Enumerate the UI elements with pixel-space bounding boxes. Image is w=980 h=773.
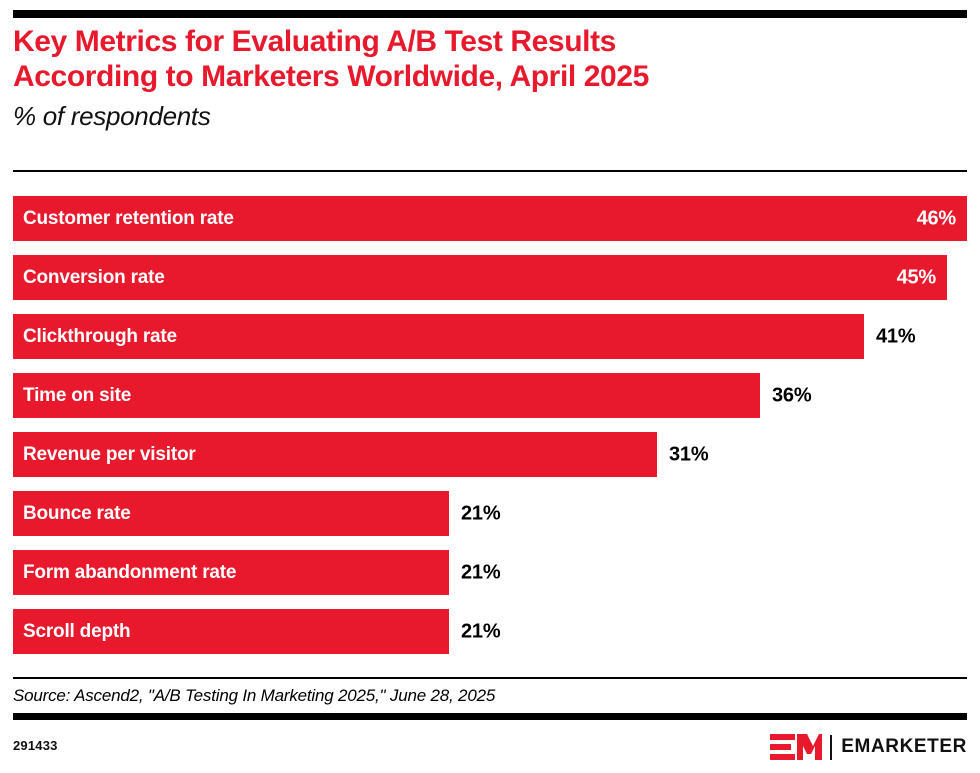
source-top-divider (13, 677, 967, 679)
page-title: Key Metrics for Evaluating A/B Test Resu… (13, 24, 967, 95)
bar-row: Revenue per visitor31% (13, 432, 967, 477)
bar: Customer retention rate46% (13, 196, 967, 241)
chart-subtitle: % of respondents (13, 101, 967, 132)
bar-label: Conversion rate (13, 267, 165, 289)
bar-value: 21% (461, 620, 500, 643)
bar-row: Time on site36% (13, 373, 967, 418)
bar: Time on site (13, 373, 760, 418)
chart-page: Key Metrics for Evaluating A/B Test Resu… (0, 0, 980, 773)
bar-value: 31% (669, 443, 708, 466)
top-rule (13, 10, 967, 18)
bar: Form abandonment rate (13, 550, 449, 595)
bottom-rule (13, 713, 967, 720)
bar: Clickthrough rate (13, 314, 864, 359)
em-monogram-icon (770, 734, 822, 761)
bar-label: Revenue per visitor (13, 444, 196, 466)
brand-logo: EMARKETER (770, 733, 967, 761)
bar-row: Conversion rate45% (13, 255, 967, 300)
bar-value: 21% (461, 502, 500, 525)
bar-row: Form abandonment rate21% (13, 550, 967, 595)
bar: Revenue per visitor (13, 432, 657, 477)
bar-chart: Customer retention rate46%Conversion rat… (13, 196, 967, 654)
bar-label: Clickthrough rate (13, 326, 177, 348)
bar-label: Form abandonment rate (13, 562, 236, 584)
bar-value: 45% (897, 266, 936, 289)
brand-divider (830, 735, 832, 760)
bar-label: Bounce rate (13, 503, 131, 525)
bar: Bounce rate (13, 491, 449, 536)
bar-row: Clickthrough rate41% (13, 314, 967, 359)
bar-label: Time on site (13, 385, 131, 407)
bar-value: 21% (461, 561, 500, 584)
bar-label: Customer retention rate (13, 208, 234, 230)
bar-row: Scroll depth21% (13, 609, 967, 654)
bar-value: 46% (917, 207, 956, 230)
chart-header: Key Metrics for Evaluating A/B Test Resu… (13, 24, 967, 132)
bar-value: 41% (876, 325, 915, 348)
bar-label: Scroll depth (13, 621, 130, 643)
brand-wordmark: EMARKETER (841, 736, 967, 758)
bar-value: 36% (772, 384, 811, 407)
chart-id: 291433 (13, 738, 58, 753)
source-note: Source: Ascend2, "A/B Testing In Marketi… (13, 686, 495, 706)
header-divider (13, 170, 967, 172)
bar-row: Customer retention rate46% (13, 196, 967, 241)
bar: Conversion rate45% (13, 255, 947, 300)
bar-row: Bounce rate21% (13, 491, 967, 536)
bar: Scroll depth (13, 609, 449, 654)
